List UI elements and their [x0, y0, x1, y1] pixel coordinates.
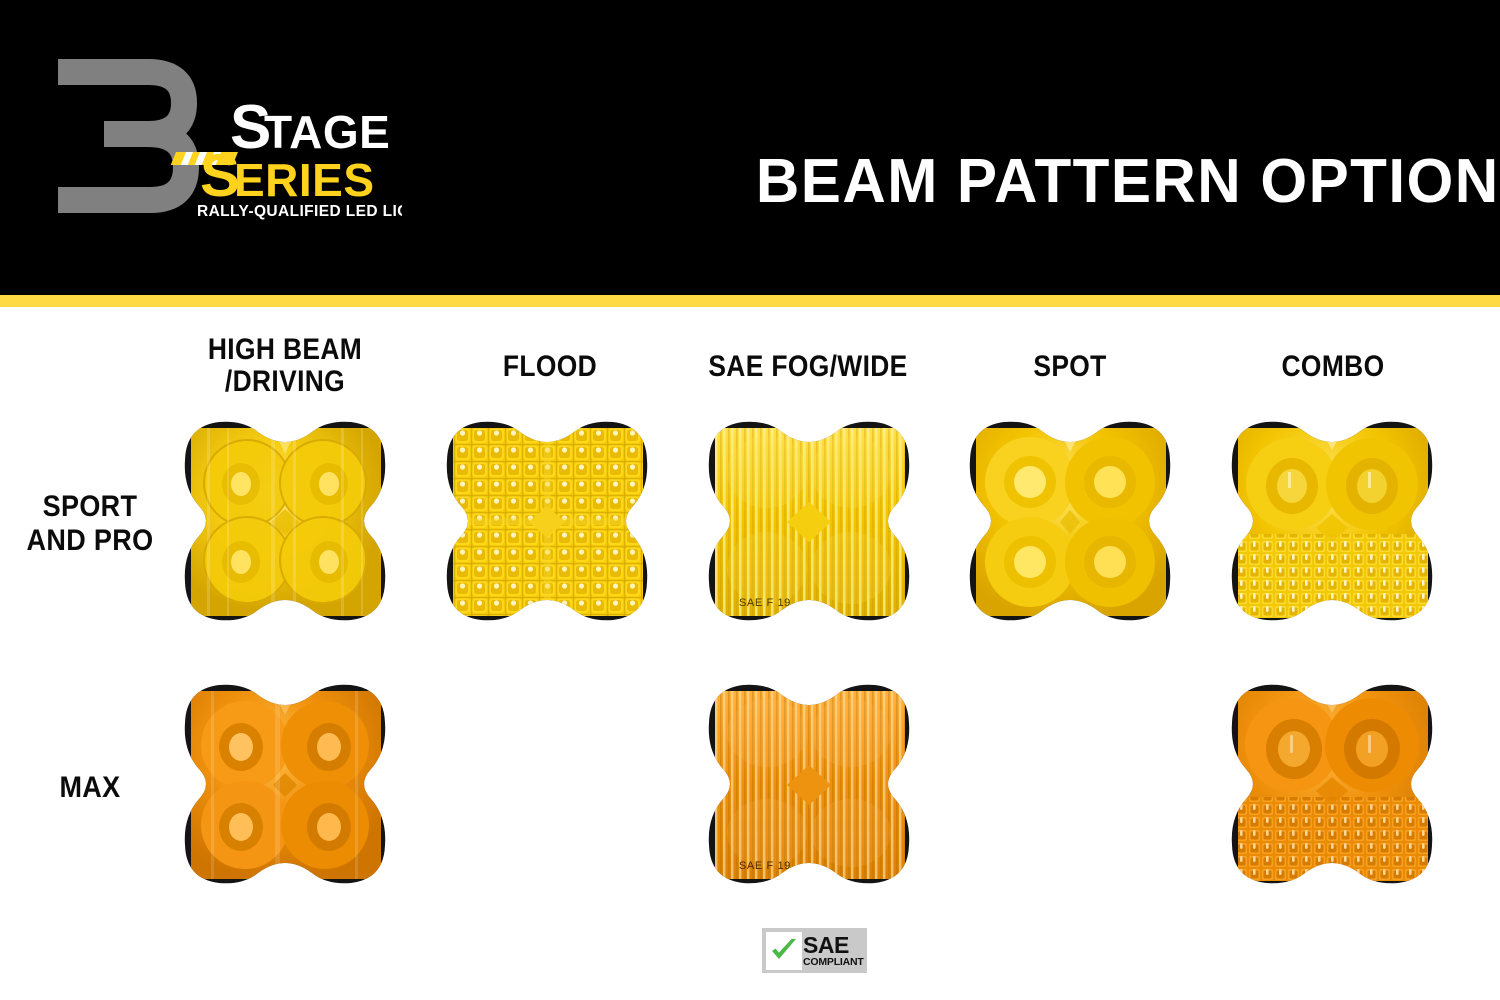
- lens-max-high-beam-driving[interactable]: [175, 673, 395, 895]
- column-header-line2: /DRIVING: [184, 366, 386, 398]
- lens-artwork-waffle-grid: [437, 410, 657, 632]
- logo-word-tage: TAGE: [264, 106, 390, 158]
- lens-artwork-quad-reflector: [175, 673, 395, 895]
- logo-word-eries: ERIES: [234, 154, 375, 206]
- column-header-flood: FLOOD: [449, 351, 651, 383]
- lens-face: [1238, 428, 1428, 618]
- sae-subtitle: COMPLIANT: [803, 956, 864, 968]
- lens-sport-and-pro-sae-fog-wide[interactable]: SAE F 19: [699, 410, 919, 632]
- column-header-spot: SPOT: [969, 351, 1171, 383]
- column-header-line1: SAE FOG/WIDE: [708, 350, 907, 383]
- lens-artwork-combo-spot-flood: [1222, 673, 1442, 895]
- row-label-line1: MAX: [59, 771, 120, 804]
- lens-marking-sae-f-19: SAE F 19: [739, 860, 791, 872]
- lens-sport-and-pro-high-beam-driving[interactable]: [175, 410, 395, 632]
- column-header-line1: FLOOD: [503, 350, 597, 383]
- lens-face: SAE F 19: [715, 428, 905, 616]
- lens-face: [1238, 691, 1428, 881]
- row-label-max: MAX: [18, 771, 162, 805]
- row-label-line1: SPORT: [43, 490, 138, 523]
- column-header-line1: SPOT: [1033, 350, 1106, 383]
- lens-sport-and-pro-flood[interactable]: [437, 410, 657, 632]
- column-header-line1: HIGH BEAM: [208, 333, 362, 366]
- column-header-high-beam-driving: HIGH BEAM /DRIVING: [184, 334, 386, 398]
- page-title: BEAM PATTERN OPTIONS: [756, 146, 1459, 218]
- sae-title: SAE: [803, 934, 849, 956]
- lens-face: [976, 428, 1166, 616]
- column-header-sae-fog-wide: SAE FOG/WIDE: [707, 351, 909, 383]
- lens-sport-and-pro-combo[interactable]: [1222, 410, 1442, 632]
- row-label-line2: AND PRO: [18, 524, 162, 558]
- lens-artwork-quad-parabolic: [960, 410, 1180, 632]
- stage-series-logo: S TAGE S ERIES RALLY-QUALIFIED LED LIGHT…: [52, 48, 402, 223]
- beam-pattern-grid: HIGH BEAM /DRIVING FLOOD SAE FOG/WIDE SP…: [0, 307, 1500, 1000]
- sae-text-group: SAE COMPLIANT: [802, 934, 864, 968]
- lens-artwork-combo-spot-flood: [1222, 410, 1442, 632]
- header-bar: S TAGE S ERIES RALLY-QUALIFIED LED LIGHT…: [0, 0, 1500, 295]
- logo-numeral-3: [58, 72, 186, 200]
- sae-check-box: [766, 932, 802, 970]
- lens-max-sae-fog-wide[interactable]: SAE F 19: [699, 673, 919, 895]
- header-divider: [0, 295, 1500, 307]
- lens-sport-and-pro-spot[interactable]: [960, 410, 1180, 632]
- combo-flood-half: [1238, 534, 1428, 618]
- lens-artwork-vertical-flutes: SAE F 19: [699, 673, 919, 895]
- lens-max-combo[interactable]: [1222, 673, 1442, 895]
- lens-face: [191, 428, 381, 616]
- logo-tagline: RALLY-QUALIFIED LED LIGHTING: [197, 203, 402, 220]
- lens-artwork-quad-reflector: [175, 410, 395, 632]
- sae-compliant-badge: SAE COMPLIANT: [762, 928, 867, 973]
- lens-face: SAE F 19: [715, 691, 905, 879]
- lens-face: [191, 691, 381, 879]
- lens-face: [453, 428, 643, 616]
- column-header-line1: COMBO: [1282, 350, 1385, 383]
- row-label-sport-and-pro: SPORT AND PRO: [18, 490, 162, 558]
- check-icon: [769, 936, 799, 966]
- lens-artwork-vertical-flutes: SAE F 19: [699, 410, 919, 632]
- combo-flood-half: [1238, 797, 1428, 881]
- logo-artwork: S TAGE S ERIES RALLY-QUALIFIED LED LIGHT…: [52, 48, 402, 223]
- column-header-combo: COMBO: [1232, 351, 1434, 383]
- lens-marking-sae-f-19: SAE F 19: [739, 597, 791, 609]
